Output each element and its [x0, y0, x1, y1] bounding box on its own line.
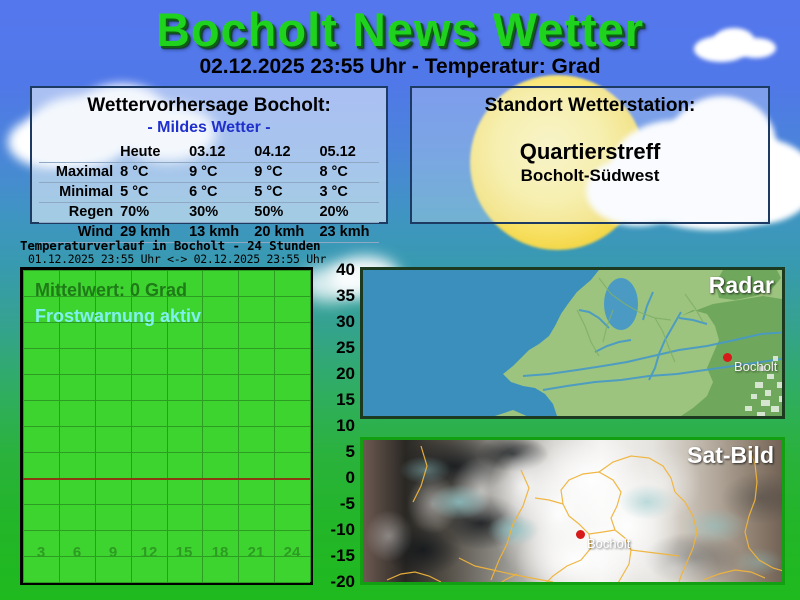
column-header: 05.12: [319, 143, 379, 163]
column-header: 04.12: [254, 143, 319, 163]
table-cell: 30%: [189, 203, 254, 223]
x-axis-tick-label: 3: [37, 544, 45, 561]
satellite-label: Sat-Bild: [687, 442, 774, 469]
forecast-title: Wettervorhersage Bocholt:: [32, 95, 386, 117]
gridline-vertical: [274, 270, 275, 582]
table-cell: 8 °C: [319, 163, 379, 183]
table-cell: 70%: [120, 203, 189, 223]
station-title: Standort Wetterstation:: [412, 95, 768, 117]
column-header: 03.12: [189, 143, 254, 163]
y-axis-tick-label: 25: [336, 338, 355, 358]
chart-annotation-mean: Mittelwert: 0 Grad: [35, 280, 187, 301]
table-cell: 6 °C: [189, 183, 254, 203]
y-axis-tick-label: 5: [346, 442, 355, 462]
table-header-row: Heute 03.12 04.12 05.12: [39, 143, 379, 163]
x-axis-tick-label: 18: [212, 544, 229, 561]
x-axis-tick-label: 21: [248, 544, 265, 561]
y-axis-tick-label: 35: [336, 286, 355, 306]
y-axis-tick-label: 0: [346, 468, 355, 488]
gridline-vertical: [238, 270, 239, 582]
forecast-panel: Wettervorhersage Bocholt: - Mildes Wette…: [30, 86, 388, 224]
radar-panel[interactable]: Radar Bocholt: [360, 267, 785, 419]
y-axis-tick-label: -20: [330, 572, 355, 592]
x-axis-tick-label: 12: [141, 544, 158, 561]
gridline-vertical: [23, 270, 24, 582]
forecast-table: Heute 03.12 04.12 05.12 Maximal 8 °C 9 °…: [39, 143, 379, 243]
chart-title: Temperaturverlauf in Bocholt - 24 Stunde…: [20, 238, 320, 253]
radar-label: Radar: [709, 272, 774, 299]
y-axis-tick-label: 15: [336, 390, 355, 410]
page-subtitle: 02.12.2025 23:55 Uhr - Temperatur: Grad: [0, 55, 800, 79]
radar-city-label: Bocholt: [734, 359, 777, 374]
x-axis-tick-label: 6: [73, 544, 81, 561]
table-cell: 20%: [319, 203, 379, 223]
gridline-horizontal: [23, 582, 310, 583]
chart-plot-area: Mittelwert: 0 Grad Frostwarnung aktiv 36…: [20, 267, 313, 585]
y-axis-tick-label: 20: [336, 364, 355, 384]
y-axis-tick-label: 10: [336, 416, 355, 436]
chart-annotation-frost: Frostwarnung aktiv: [35, 306, 201, 327]
forecast-summary: - Mildes Wetter -: [32, 119, 386, 137]
y-axis-tick-label: -15: [330, 546, 355, 566]
station-name: Quartierstreff: [412, 139, 768, 165]
table-cell: 5 °C: [254, 183, 319, 203]
satellite-panel[interactable]: Sat-Bild Bocholt: [360, 437, 785, 585]
page-title: Bocholt News Wetter: [0, 2, 800, 58]
table-cell: 3 °C: [319, 183, 379, 203]
table-cell: 8 °C: [120, 163, 189, 183]
chart-x-axis-labels: 3691215182124: [23, 544, 310, 566]
x-axis-tick-label: 9: [109, 544, 117, 561]
gridline-vertical: [310, 270, 311, 582]
y-axis-tick-label: 30: [336, 312, 355, 332]
gridline-vertical: [202, 270, 203, 582]
y-axis-tick-label: -5: [340, 494, 355, 514]
chart-subtitle: 01.12.2025 23:55 Uhr <-> 02.12.2025 23:5…: [28, 252, 326, 266]
radar-city-marker: [723, 353, 732, 362]
table-cell: 9 °C: [254, 163, 319, 183]
y-axis-tick-label: -10: [330, 520, 355, 540]
chart-y-axis-labels: 4035302520151050-5-10-15-20: [317, 267, 357, 585]
table-row: Regen 70% 30% 50% 20%: [39, 203, 379, 223]
table-cell: 23 kmh: [319, 223, 379, 243]
table-row: Maximal 8 °C 9 °C 9 °C 8 °C: [39, 163, 379, 183]
chart-zero-line: [23, 478, 310, 480]
table-cell: 5 °C: [120, 183, 189, 203]
satellite-city-marker: [576, 530, 585, 539]
row-label: Minimal: [39, 183, 120, 203]
table-row: Minimal 5 °C 6 °C 5 °C 3 °C: [39, 183, 379, 203]
y-axis-tick-label: 40: [336, 260, 355, 280]
table-cell: 9 °C: [189, 163, 254, 183]
station-area: Bocholt-Südwest: [412, 166, 768, 186]
x-axis-tick-label: 15: [176, 544, 193, 561]
satellite-city-label: Bocholt: [587, 536, 630, 551]
station-panel: Standort Wetterstation: Quartierstreff B…: [410, 86, 770, 224]
table-cell: 50%: [254, 203, 319, 223]
table-corner-cell: [39, 143, 120, 163]
x-axis-tick-label: 24: [284, 544, 301, 561]
row-label: Maximal: [39, 163, 120, 183]
column-header: Heute: [120, 143, 189, 163]
row-label: Regen: [39, 203, 120, 223]
temperature-chart: Mittelwert: 0 Grad Frostwarnung aktiv 36…: [20, 267, 335, 585]
